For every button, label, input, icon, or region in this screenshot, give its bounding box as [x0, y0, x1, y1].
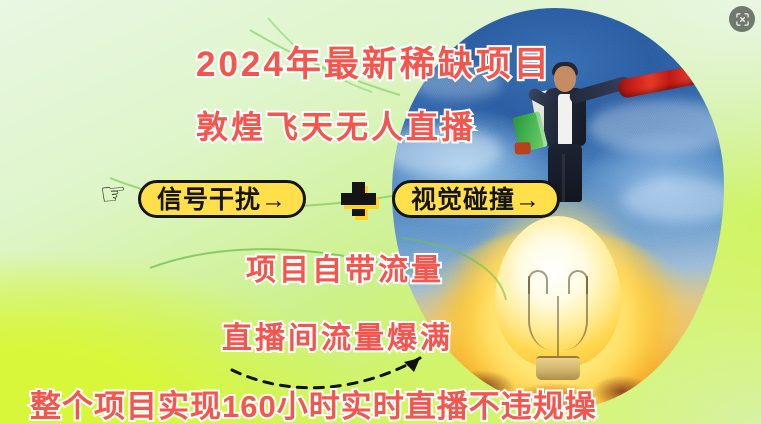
- head-shape: [554, 66, 576, 92]
- poster-canvas: 2024年最新稀缺项目 敦煌飞天无人直播 项目自带流量 直播间流量爆满 整个项目…: [0, 0, 761, 424]
- badge-signal-label: 信号干扰→: [157, 180, 287, 216]
- pointing-hand-icon: ☞: [99, 179, 128, 211]
- lightbulb-icon: [495, 216, 621, 368]
- cloud-shape: [622, 178, 724, 222]
- page-title: 2024年最新稀缺项目: [196, 36, 552, 87]
- lightbulb-base: [536, 356, 580, 380]
- hair-shape: [552, 62, 578, 76]
- green-book-icon: [512, 111, 548, 153]
- badge-visual-label: 视觉碰撞→: [411, 180, 541, 216]
- benefit-line-three: 整个项目实现160小时实时直播不违规操: [30, 381, 597, 424]
- plus-icon: [338, 180, 378, 218]
- suit-torso: [544, 88, 586, 146]
- scan-frame-icon: [735, 12, 750, 27]
- scan-button[interactable]: [729, 6, 755, 32]
- lightbulb-filament-stem: [557, 296, 559, 358]
- scarf-shape: [531, 87, 571, 132]
- benefit-line-one: 项目自带流量: [246, 245, 444, 289]
- lightbulb-filament: [528, 276, 588, 350]
- raised-arm: [568, 75, 631, 105]
- cloud-shape: [588, 100, 724, 154]
- lowered-arm: [527, 87, 559, 112]
- page-subtitle: 敦煌飞天无人直播: [196, 102, 476, 148]
- shirt-front: [558, 94, 572, 146]
- telescope-icon: [617, 64, 705, 99]
- benefit-line-two: 直播间流量爆满: [222, 313, 453, 357]
- badge-visual-impact: 视觉碰撞→: [392, 180, 560, 218]
- badge-signal-interference: 信号干扰→: [138, 180, 306, 218]
